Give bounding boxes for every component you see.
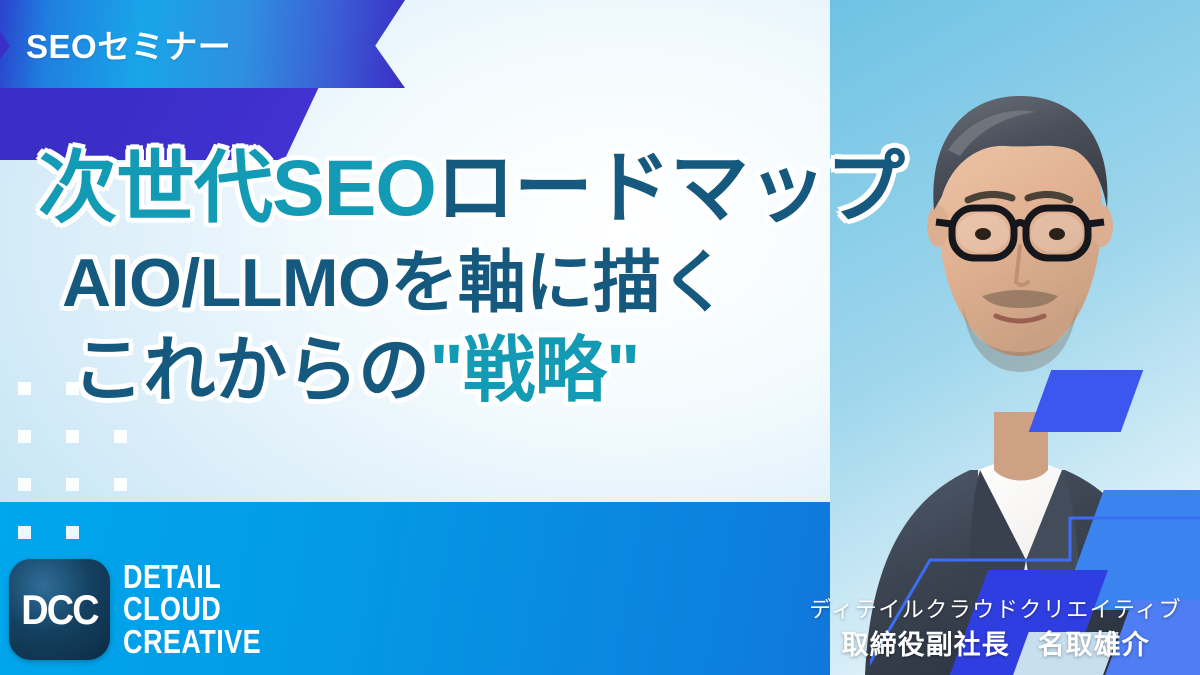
headline-line-2-navy: AIO/LLMOを軸に描く (62, 245, 728, 321)
brand-logo: DCC DETAIL CLOUD CREATIVE (9, 559, 291, 660)
headline-line-3: これからの"戦略" (0, 335, 965, 407)
headline-line-2: AIO/LLMOを軸に描く (0, 249, 965, 317)
decor-dot (66, 526, 79, 539)
badge-label: SEOセミナー (26, 20, 231, 68)
seminar-banner: SEOセミナー 次世代SEOロードマップ AIO/LLMOを軸に描く これからの… (0, 0, 1200, 675)
speaker-company: ディテイルクラウドクリエイティブ (809, 596, 1182, 625)
decor-dot (114, 430, 127, 443)
decor-dot (66, 430, 79, 443)
headline-line-1-navy: ロードマップ (436, 143, 904, 232)
decor-dot (18, 478, 31, 491)
speaker-name: 取締役副社長 名取雄介 (809, 627, 1182, 663)
badge-ribbon: SEOセミナー (0, 0, 405, 88)
logo-mark-text: DCC (21, 586, 98, 634)
headline: 次世代SEOロードマップ AIO/LLMOを軸に描く これからの"戦略" (0, 148, 965, 407)
logo-mark-icon: DCC (9, 559, 110, 660)
decor-dot (114, 478, 127, 491)
decor-dot (18, 526, 31, 539)
decor-dot (18, 430, 31, 443)
logo-word-detail: DETAIL (123, 561, 261, 594)
logo-wordmark: DETAIL CLOUD CREATIVE (123, 561, 291, 659)
headline-line-3-teal: "戦略" (430, 331, 640, 411)
headline-line-3-navy: これからの (72, 331, 430, 411)
headline-line-1-teal: 次世代SEO (38, 143, 436, 232)
speaker-caption: ディテイルクラウドクリエイティブ 取締役副社長 名取雄介 (809, 596, 1182, 663)
logo-word-creative: CREATIVE (123, 626, 261, 659)
headline-line-1: 次世代SEOロードマップ (0, 148, 965, 227)
decor-dot (66, 478, 79, 491)
logo-word-cloud: CLOUD (123, 593, 261, 626)
